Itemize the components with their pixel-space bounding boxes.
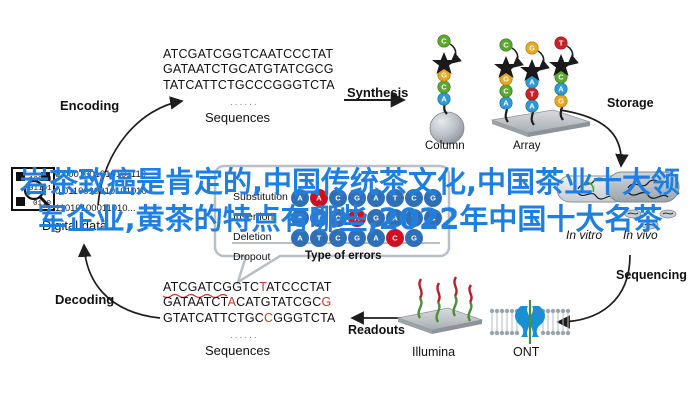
node-label-illumina: Illumina bbox=[412, 345, 455, 359]
svg-text:A: A bbox=[297, 214, 303, 223]
svg-text:A: A bbox=[558, 85, 564, 94]
node-label-ont: ONT bbox=[513, 345, 539, 359]
top-seq-line-2: GATAATCTGCATGTATCGCG bbox=[163, 62, 334, 76]
svg-text:A: A bbox=[297, 194, 303, 203]
svg-text:A: A bbox=[354, 214, 360, 223]
svg-text:C: C bbox=[335, 214, 341, 223]
step-label-sequencing: Sequencing bbox=[616, 268, 687, 282]
svg-text:C: C bbox=[441, 37, 447, 46]
step-label-synthesis: Synthesis bbox=[347, 85, 408, 100]
svg-text:T: T bbox=[393, 194, 398, 203]
svg-text:C: C bbox=[411, 177, 416, 184]
in-vivo-cell-icon bbox=[607, 172, 679, 229]
node-label-sequences-bottom: Sequences bbox=[205, 343, 270, 358]
column-nucleotide-chain: A C G C bbox=[432, 35, 456, 105]
svg-text:G: G bbox=[430, 194, 436, 203]
digital-data-icon: 10010 01101 0110 bbox=[12, 168, 54, 210]
svg-text:C: C bbox=[335, 194, 341, 203]
svg-text:G: G bbox=[558, 97, 564, 106]
svg-text:01101: 01101 bbox=[29, 185, 52, 193]
svg-text:C: C bbox=[335, 177, 340, 184]
svg-text:A: A bbox=[297, 234, 303, 243]
svg-text:C: C bbox=[411, 194, 417, 203]
svg-text:A: A bbox=[503, 99, 509, 108]
svg-text:G: G bbox=[430, 177, 436, 184]
node-label-array: Array bbox=[513, 140, 540, 152]
error-label-insertion: Insertion bbox=[233, 211, 273, 223]
svg-text:C: C bbox=[392, 234, 398, 243]
svg-text:G: G bbox=[373, 214, 379, 223]
diagram-vector-layer: 10010 01101 0110 A C G C A C bbox=[0, 0, 700, 401]
svg-text:A: A bbox=[529, 102, 535, 111]
svg-text:T: T bbox=[412, 214, 417, 223]
svg-text:C: C bbox=[430, 214, 436, 223]
top-sequences-ellipsis: ...... bbox=[230, 97, 259, 108]
svg-text:G: G bbox=[503, 75, 509, 84]
bottom-seq-line-1: ATCGATCGGTCTATCCCTAT bbox=[163, 280, 332, 294]
binary-line-3: 11010100011010... bbox=[55, 203, 135, 214]
error-label-dropout: Dropout bbox=[233, 251, 270, 263]
step-label-storage: Storage bbox=[607, 96, 654, 110]
binary-line-1: 0.0001001010101110 bbox=[55, 169, 146, 180]
node-label-in-vitro: In vitro bbox=[566, 228, 602, 242]
step-label-encoding: Encoding bbox=[60, 98, 119, 113]
svg-text:T: T bbox=[317, 214, 322, 223]
svg-text:T: T bbox=[317, 234, 322, 243]
array-nucleotide-chain-1: A C G C bbox=[494, 39, 518, 122]
svg-text:T: T bbox=[559, 39, 564, 48]
step-label-decoding: Decoding bbox=[55, 292, 114, 307]
svg-text:G: G bbox=[441, 71, 447, 80]
svg-text:G: G bbox=[411, 234, 417, 243]
column-bead bbox=[430, 99, 464, 144]
top-seq-line-1: ATCGATCGGTCAATCCCTAT bbox=[163, 47, 333, 61]
diagram-canvas: 10010 01101 0110 A C G C A C bbox=[0, 0, 700, 401]
svg-text:A: A bbox=[316, 194, 322, 203]
decoding-arrow bbox=[84, 245, 160, 318]
svg-text:A: A bbox=[373, 234, 379, 243]
ont-nanopore-icon bbox=[490, 300, 570, 344]
top-sequences-block: ATCGATCGGTCAATCCCTAT GATAATCTGCATGTATCGC… bbox=[163, 47, 335, 93]
svg-text:C: C bbox=[503, 41, 509, 50]
svg-text:A: A bbox=[373, 194, 379, 203]
svg-text:C: C bbox=[335, 234, 341, 243]
bottom-seq-line-2: GATAATCTACATGTATCGCG bbox=[163, 295, 331, 309]
svg-text:A: A bbox=[392, 214, 398, 223]
step-label-readouts: Readouts bbox=[348, 323, 405, 337]
node-label-sequences-top: Sequences bbox=[205, 110, 270, 125]
bottom-sequences-ellipsis: ...... bbox=[230, 330, 259, 341]
svg-text:T: T bbox=[530, 90, 535, 99]
binary-line-2: 0.0110010010101010 bbox=[55, 186, 147, 197]
bottom-sequences-block: ATCGATCGGTCTATCCCTAT GATAATCTACATGTATCGC… bbox=[163, 280, 336, 326]
node-label-column: Column bbox=[425, 140, 465, 152]
svg-text:G: G bbox=[354, 194, 360, 203]
error-label-deletion: Deletion bbox=[233, 231, 272, 243]
svg-text:T: T bbox=[317, 177, 322, 184]
node-label-digital-data: Digital data bbox=[42, 218, 107, 233]
array-nucleotide-chain-3: G A C T bbox=[549, 37, 573, 120]
svg-text:C: C bbox=[503, 87, 509, 96]
svg-text:G: G bbox=[354, 234, 360, 243]
error-box-caption: Type of errors bbox=[305, 250, 381, 262]
bottom-seq-line-3: GTATCATTCTGCCGGGTCTA bbox=[163, 311, 336, 325]
svg-text:A: A bbox=[529, 78, 535, 87]
svg-text:A: A bbox=[441, 95, 447, 104]
node-label-in-vivo: In vivo bbox=[623, 228, 658, 242]
svg-text:G: G bbox=[529, 44, 535, 53]
svg-text:C: C bbox=[558, 73, 564, 82]
error-label-substitution: Substitution bbox=[233, 191, 288, 203]
top-seq-line-3: TATCATTCTGCCCGGGTCTA bbox=[163, 78, 335, 92]
illumina-flowcell-icon bbox=[398, 277, 482, 334]
svg-text:C: C bbox=[441, 83, 447, 92]
